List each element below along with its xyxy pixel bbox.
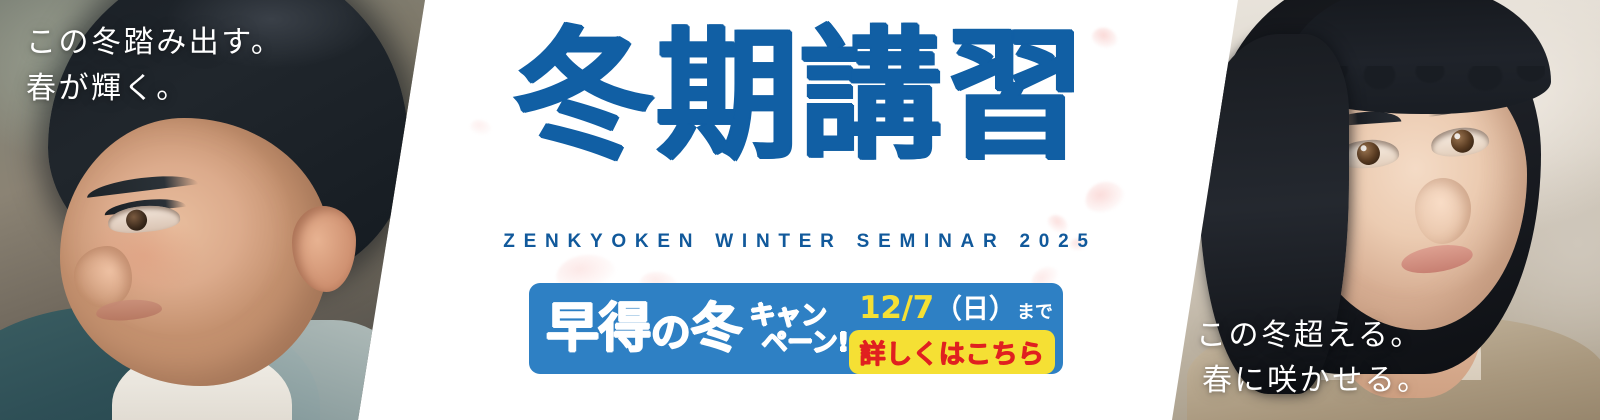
campaign-date-day: （日） [935,287,1016,326]
right-caption-line1: この冬超える。 [1196,313,1430,359]
winter-seminar-banner: この冬踏み出す。 春が輝く。 冬期講習 ZENKYOKEN WINTER SEM… [0,0,1600,420]
right-caption: この冬超える。 春に咲かせる。 [1196,313,1430,404]
campaign-headline-text: 早得の冬 [546,302,742,355]
campaign-hayadoku: 早得 [546,298,651,359]
campaign-date: 12/7 （日） まで [849,287,1063,328]
left-caption: この冬踏み出す。 春が輝く。 [26,20,283,111]
campaign-kana-line2: ペーン! [761,330,849,357]
campaign-kana-line1: キャン [749,303,849,330]
center-content: 冬期講習 ZENKYOKEN WINTER SEMINAR 2025 早得の冬 … [430,0,1170,420]
campaign-date-number: 12/7 [859,290,934,326]
campaign-fuyu: 冬 [690,298,742,359]
campaign-date-suffix: まで [1017,298,1053,324]
left-caption-line1: この冬踏み出す。 [26,20,283,66]
details-button-label: 詳しくはこちら [860,334,1045,371]
campaign-banner[interactable]: 早得の冬 キャン ペーン! 12/7 （日） まで 詳しくはこちら [529,283,1063,374]
campaign-headline: 早得の冬 キャン ペーン! [529,283,849,374]
campaign-deadline-block: 12/7 （日） まで 詳しくはこちら [849,283,1063,374]
campaign-no: の [651,310,690,356]
subtitle: ZENKYOKEN WINTER SEMINAR 2025 [503,231,1096,253]
left-photo-panel: この冬踏み出す。 春が輝く。 [0,0,430,420]
right-caption-line2: 春に咲かせる。 [1196,358,1430,404]
details-button[interactable]: 詳しくはこちら [849,330,1055,374]
campaign-kana-stack: キャン ペーン! [749,303,849,356]
left-caption-line2: 春が輝く。 [26,66,283,112]
page-title: 冬期講習 [513,26,1088,168]
